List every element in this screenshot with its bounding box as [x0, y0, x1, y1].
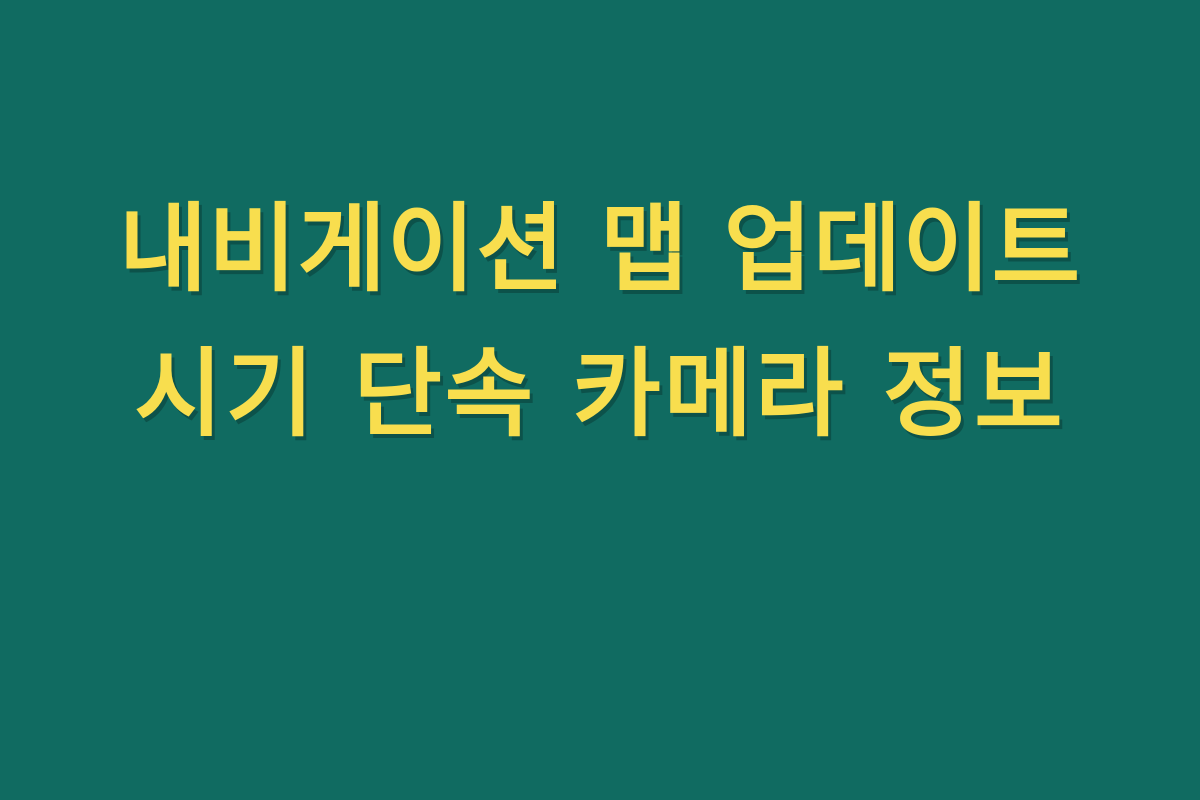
banner-canvas: 내비게이션 맵 업데이트 시기 단속 카메라 정보 [0, 0, 1200, 800]
headline-line-2: 시기 단속 카메라 정보 [70, 322, 1130, 467]
page-title: 내비게이션 맵 업데이트 시기 단속 카메라 정보 [70, 177, 1130, 467]
headline-line-1: 내비게이션 맵 업데이트 [70, 177, 1130, 322]
